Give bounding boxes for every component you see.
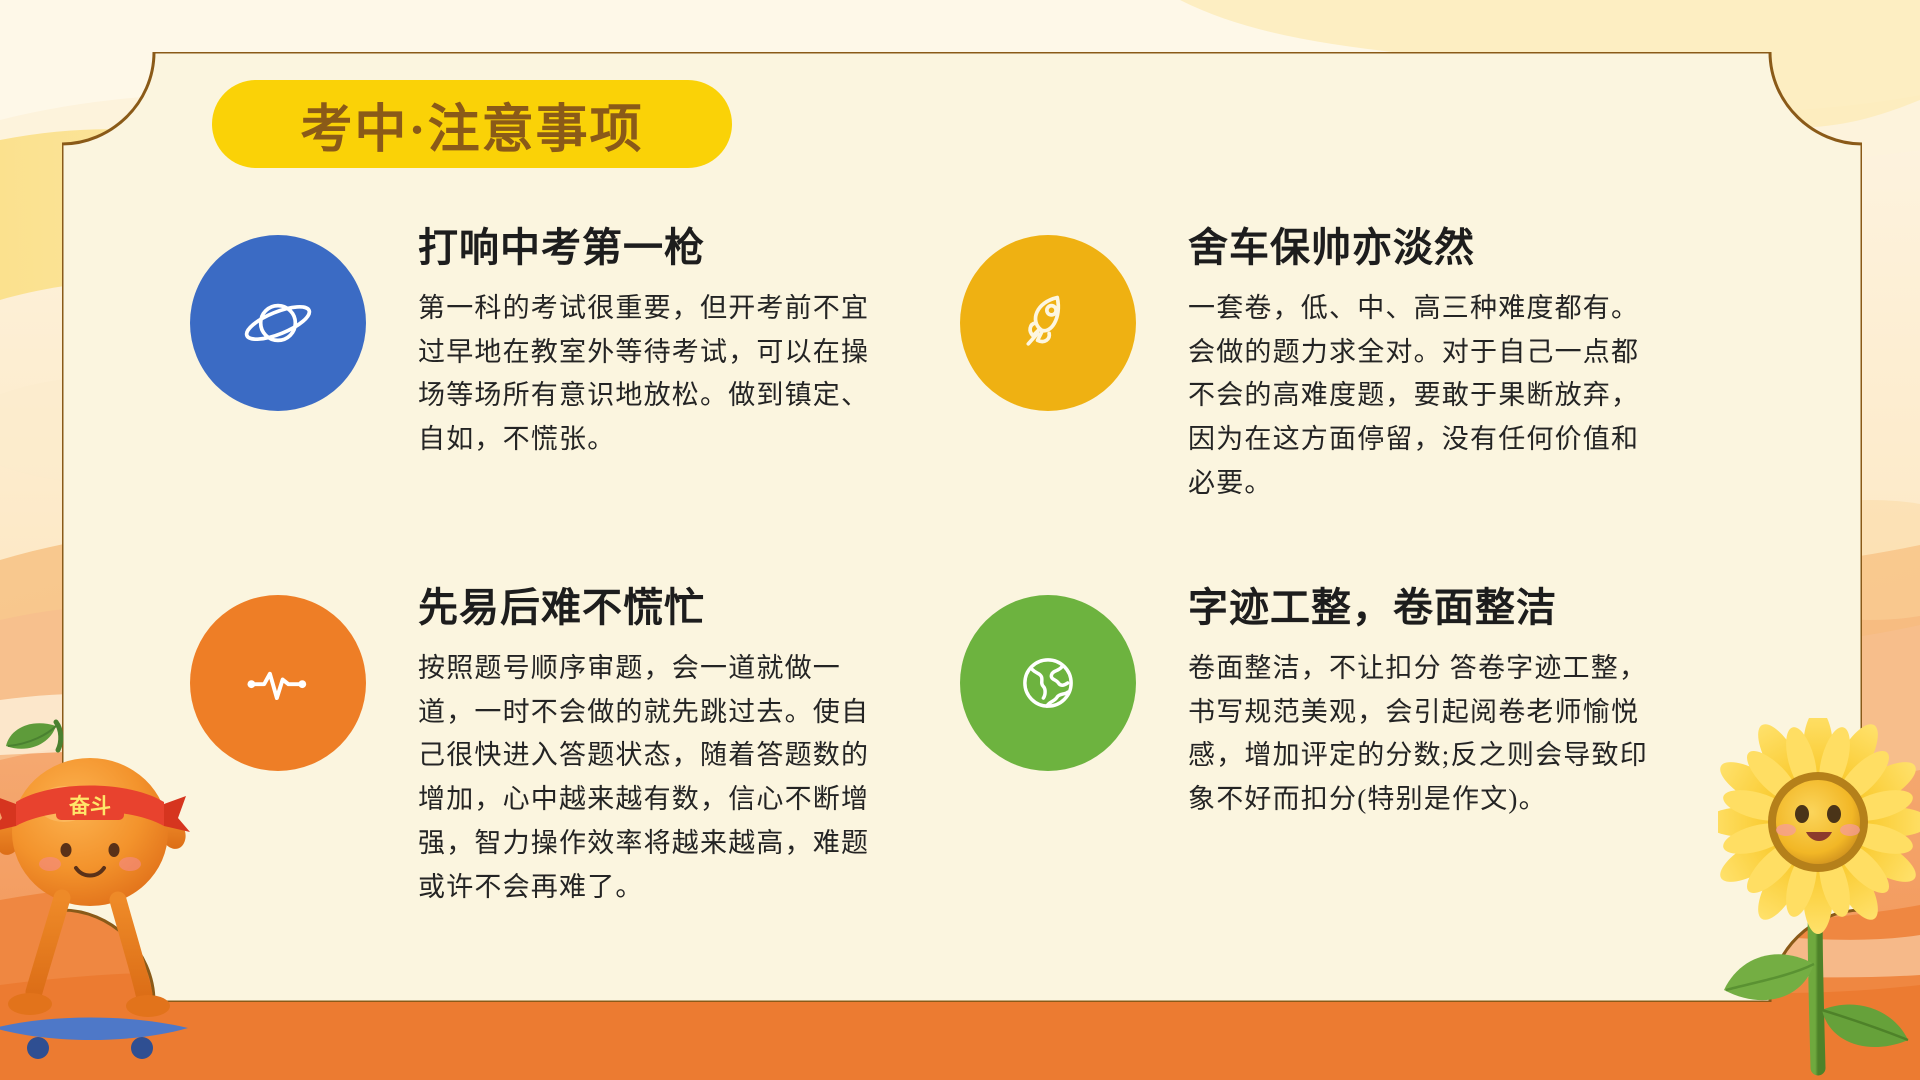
tip-body-1: 打响中考第一枪 第一科的考试很重要，但开考前不宜过早地在教室外等待考试，可以在操… (418, 225, 888, 462)
orange-mascot-illustration: 奋斗 (0, 692, 195, 1080)
tip-icon-bubble-3 (190, 595, 366, 771)
tip-title-3: 先易后难不慌忙 (418, 585, 888, 631)
tip-text-1: 第一科的考试很重要，但开考前不宜过早地在教室外等待考试，可以在操场等场所有意识地… (418, 287, 888, 462)
pulse-icon (241, 646, 315, 720)
sunflower-illustration (1718, 718, 1920, 1080)
tip-card-1: 打响中考第一枪 第一科的考试很重要，但开考前不宜过早地在教室外等待考试，可以在操… (190, 225, 960, 585)
tip-icon-bubble-2 (960, 235, 1136, 411)
tip-card-4: 字迹工整，卷面整洁 卷面整洁，不让扣分 答卷字迹工整，书写规范美观，会引起阅卷老… (960, 585, 1720, 965)
tip-text-3: 按照题号顺序审题，会一道就做一道，一时不会做的就先跳过去。使自己很快进入答题状态… (418, 647, 888, 909)
smiling-sunflower (1718, 718, 1920, 1080)
tip-icon-bubble-4 (960, 595, 1136, 771)
tip-title-2: 舍车保帅亦淡然 (1188, 225, 1658, 271)
tip-icon-bubble-1 (190, 235, 366, 411)
mascot-headband-label: 奋斗 (68, 794, 111, 818)
globe-icon (1011, 646, 1085, 720)
tips-grid: 打响中考第一枪 第一科的考试很重要，但开考前不宜过早地在教室外等待考试，可以在操… (190, 225, 1720, 965)
tip-card-3: 先易后难不慌忙 按照题号顺序审题，会一道就做一道，一时不会做的就先跳过去。使自己… (190, 585, 960, 965)
tip-body-2: 舍车保帅亦淡然 一套卷，低、中、高三种难度都有。会做的题力求全对。对于自己一点都… (1188, 225, 1658, 506)
tip-text-2: 一套卷，低、中、高三种难度都有。会做的题力求全对。对于自己一点都不会的高难度题，… (1188, 287, 1658, 506)
orange-mascot: 奋斗 (0, 692, 195, 1080)
slide-title-pill: 考中·注意事项 (212, 80, 732, 168)
page-title: 考中·注意事项 (300, 87, 643, 162)
planet-icon (241, 286, 315, 360)
tip-text-4: 卷面整洁，不让扣分 答卷字迹工整，书写规范美观，会引起阅卷老师愉悦感，增加评定的… (1188, 647, 1658, 822)
tip-card-2: 舍车保帅亦淡然 一套卷，低、中、高三种难度都有。会做的题力求全对。对于自己一点都… (960, 225, 1720, 585)
rocket-icon (1011, 286, 1085, 360)
tip-title-4: 字迹工整，卷面整洁 (1188, 585, 1658, 631)
tip-body-4: 字迹工整，卷面整洁 卷面整洁，不让扣分 答卷字迹工整，书写规范美观，会引起阅卷老… (1188, 585, 1658, 822)
tip-title-1: 打响中考第一枪 (418, 225, 888, 271)
tip-body-3: 先易后难不慌忙 按照题号顺序审题，会一道就做一道，一时不会做的就先跳过去。使自己… (418, 585, 888, 909)
